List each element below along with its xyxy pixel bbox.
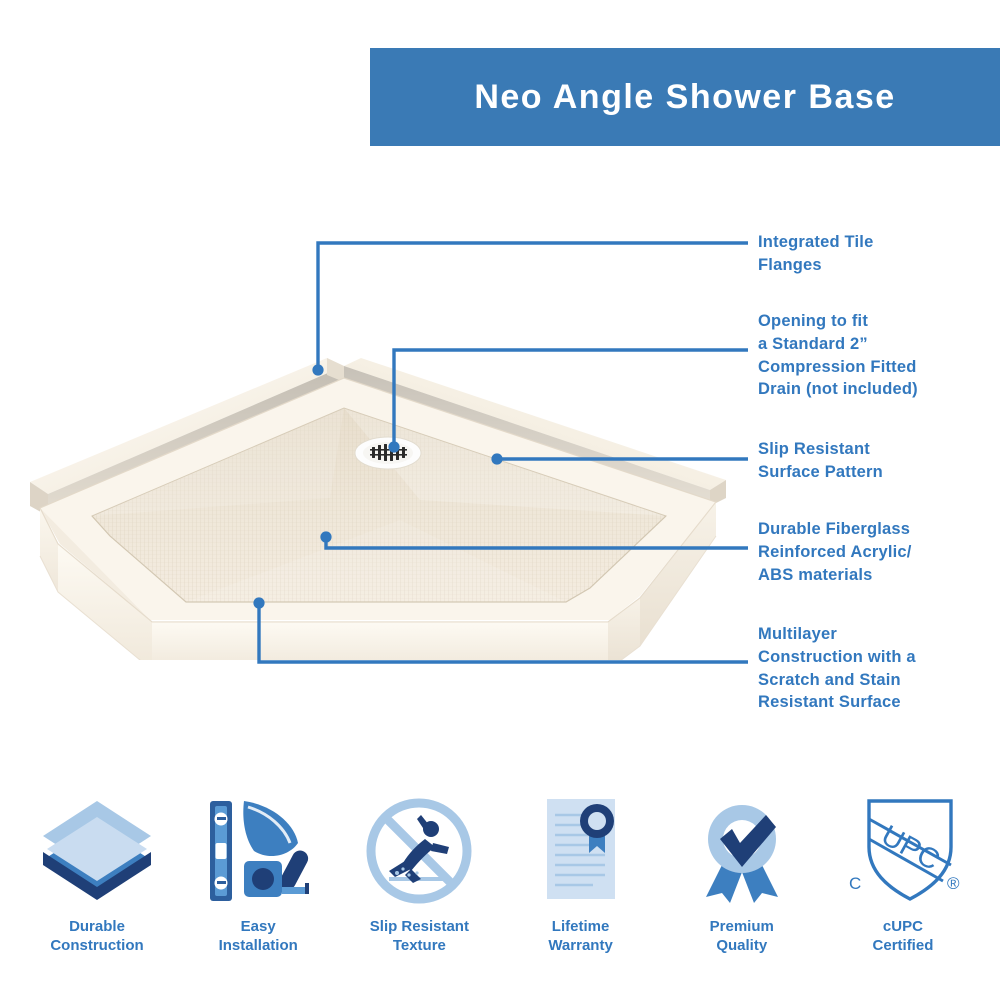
feature-durable-construction: Durable Construction xyxy=(22,795,172,956)
leader-line-multilayer xyxy=(259,603,748,662)
feature-caption-line: Durable xyxy=(50,918,143,937)
feature-lifetime-warranty: Lifetime Warranty xyxy=(506,795,656,956)
callout-line: Scratch and Stain xyxy=(758,669,916,692)
leader-dot-drain xyxy=(388,441,399,452)
feature-caption-line: Easy xyxy=(219,918,298,937)
feature-caption-line: Quality xyxy=(710,937,774,956)
infographic-page: Neo Angle Shower Base xyxy=(0,0,1000,1000)
level-trowel-tape-icon xyxy=(198,795,318,907)
check-rosette-icon xyxy=(682,795,802,907)
feature-caption-line: cUPC xyxy=(873,918,934,937)
feature-caption-line: Installation xyxy=(219,937,298,956)
feature-caption-line: Warranty xyxy=(548,937,612,956)
upc-shield-icon: UPC C ® xyxy=(843,795,963,907)
leader-dot-slip xyxy=(491,453,502,464)
feature-slip-resistant-texture: Slip Resistant Texture xyxy=(344,795,494,956)
stacked-layers-icon xyxy=(37,795,157,907)
feature-premium-quality: Premium Quality xyxy=(667,795,817,956)
feature-caption-line: Premium xyxy=(710,918,774,937)
no-slip-sign-icon xyxy=(359,795,479,907)
callout-line: Slip Resistant xyxy=(758,438,883,461)
callout-line: a Standard 2” xyxy=(758,333,918,356)
callout-line: Resistant Surface xyxy=(758,691,916,714)
callout-line: Opening to fit xyxy=(758,310,918,333)
leader-dot-flanges xyxy=(312,364,323,375)
certificate-ribbon-icon xyxy=(521,795,641,907)
feature-cupc-certified: UPC C ® cUPC Certified xyxy=(828,795,978,956)
feature-caption-line: Texture xyxy=(370,937,469,956)
callout-line: Drain (not included) xyxy=(758,378,918,401)
callout-line: Construction with a xyxy=(758,646,916,669)
shield-left-mark: C xyxy=(849,874,861,893)
feature-caption: Slip Resistant Texture xyxy=(370,918,469,956)
callout-line: Durable Fiberglass xyxy=(758,518,912,541)
leader-line-material xyxy=(326,537,748,548)
feature-caption-line: Slip Resistant xyxy=(370,918,469,937)
callout-durable-fiberglass: Durable Fiberglass Reinforced Acrylic/ A… xyxy=(758,518,912,586)
callout-line: Multilayer xyxy=(758,623,916,646)
feature-caption: Durable Construction xyxy=(50,918,143,956)
feature-badges-row: Durable Construction xyxy=(0,795,1000,970)
callout-line: Reinforced Acrylic/ xyxy=(758,541,912,564)
callout-line: Surface Pattern xyxy=(758,461,883,484)
leader-line-drain xyxy=(394,350,748,447)
shield-right-mark: ® xyxy=(947,874,960,893)
callout-line: Integrated Tile xyxy=(758,231,873,254)
feature-easy-installation: Easy Installation xyxy=(183,795,333,956)
callout-line: Flanges xyxy=(758,254,873,277)
callout-drain-opening: Opening to fit a Standard 2” Compression… xyxy=(758,310,918,401)
feature-caption-line: Lifetime xyxy=(548,918,612,937)
feature-caption-line: Certified xyxy=(873,937,934,956)
feature-caption: Premium Quality xyxy=(710,918,774,956)
feature-caption: Easy Installation xyxy=(219,918,298,956)
callout-integrated-tile-flanges: Integrated Tile Flanges xyxy=(758,231,873,277)
callout-multilayer-construction: Multilayer Construction with a Scratch a… xyxy=(758,623,916,714)
feature-caption-line: Construction xyxy=(50,937,143,956)
leader-dot-multilayer xyxy=(253,597,264,608)
callout-line: ABS materials xyxy=(758,564,912,587)
upc-shield-label: UPC xyxy=(876,820,945,878)
feature-caption: cUPC Certified xyxy=(873,918,934,956)
feature-caption: Lifetime Warranty xyxy=(548,918,612,956)
callout-line: Compression Fitted xyxy=(758,356,918,379)
leader-dot-material xyxy=(320,531,331,542)
callout-slip-resistant-surface: Slip Resistant Surface Pattern xyxy=(758,438,883,484)
